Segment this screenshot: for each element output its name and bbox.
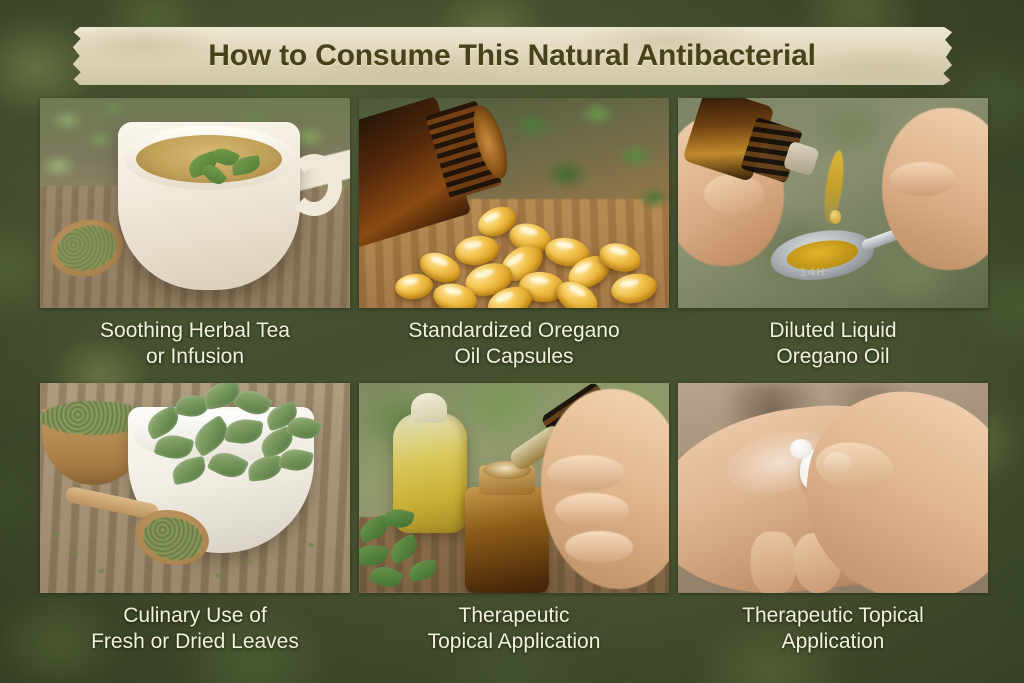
photo-herbal-tea [40,98,350,308]
tea-liquid [136,135,282,183]
oregano-leaf [408,559,438,582]
photo-topical-cream [678,383,988,593]
caption-line-2: Fresh or Dried Leaves [91,629,299,655]
title-banner: How to Consume This Natural Antibacteria… [72,27,952,85]
caption-line-2: Oregano Oil [776,344,889,370]
caption-topical-cream: Therapeutic Topical Application [678,593,988,668]
caption-line-2: Application [782,629,885,655]
caption-line-1: Standardized Oregano [408,318,619,344]
caption-line-2: Topical Application [428,629,601,655]
page-title: How to Consume This Natural Antibacteria… [72,27,952,85]
oregano-leaf [368,562,404,592]
oregano-leaf [207,446,250,483]
herb-crumb [98,569,104,573]
grid-cell-diluted-liquid-oil: 14H Diluted Liquid Oregano Oil [678,98,988,383]
scene-culinary-leaves [40,383,350,593]
oil-droplet [830,210,841,224]
oregano-leaf [224,417,263,447]
herb-crumb [54,533,60,537]
softgel-capsule [609,270,659,307]
finger [890,162,956,196]
herb-crumb [216,573,222,577]
capsule-pile [359,98,669,308]
finger [547,455,625,491]
finger [555,493,629,527]
grid-cell-topical-dropper: Therapeutic Topical Application [359,383,669,668]
caption-line-1: Diluted Liquid [769,318,896,344]
open-amber-bottle [465,487,549,593]
grid-cell-oil-capsules: Standardized Oregano Oil Capsules [359,98,669,383]
photo-culinary-leaves [40,383,350,593]
caption-topical-dropper: Therapeutic Topical Application [359,593,669,668]
cup-handle [286,154,342,216]
image-grid: Soothing Herbal Tea or Infusion [40,98,988,668]
caption-line-1: Culinary Use of [123,603,267,629]
photo-diluted-liquid-oil: 14H [678,98,988,308]
scene-topical-cream [678,383,988,593]
fresh-oregano-leaves [122,383,322,493]
caption-culinary-leaves: Culinary Use of Fresh or Dried Leaves [40,593,350,668]
tea-cup [118,122,300,290]
scene-topical-dropper [359,383,669,593]
oregano-leaf [359,543,388,568]
cream-dollop-secondary [790,439,812,459]
caption-line-1: Therapeutic [459,603,570,629]
oregano-leaf [386,533,422,565]
caption-line-1: Therapeutic Topical [742,603,924,629]
caption-line-2: Oil Capsules [454,344,573,370]
herb-crumb [72,551,78,555]
finger [565,531,633,563]
herb-crumb [246,559,252,563]
caption-diluted-liquid-oil: Diluted Liquid Oregano Oil [678,308,988,383]
image-watermark: 14H [799,265,825,280]
grid-cell-herbal-tea: Soothing Herbal Tea or Infusion [40,98,350,383]
carafe-stopper [411,393,447,423]
herb-crumb [308,543,314,547]
caption-line-2: or Infusion [146,344,244,370]
grid-cell-culinary-leaves: Culinary Use of Fresh or Dried Leaves [40,383,350,668]
scene-diluted-liquid-oil: 14H [678,98,988,308]
oregano-leaf [383,506,415,532]
photo-topical-dropper [359,383,669,593]
oregano-sprig [359,509,465,593]
oregano-leaf [247,455,283,481]
caption-line-1: Soothing Herbal Tea [100,318,290,344]
softgel-capsule [394,272,434,301]
photo-oil-capsules [359,98,669,308]
caption-herbal-tea: Soothing Herbal Tea or Infusion [40,308,350,383]
oregano-leaf [170,456,208,486]
finger [751,532,797,593]
scene-oil-capsules [359,98,669,308]
scene-herbal-tea [40,98,350,308]
caption-oil-capsules: Standardized Oregano Oil Capsules [359,308,669,383]
infographic-poster: How to Consume This Natural Antibacteria… [0,0,1024,683]
grid-cell-topical-cream: Therapeutic Topical Application [678,383,988,668]
